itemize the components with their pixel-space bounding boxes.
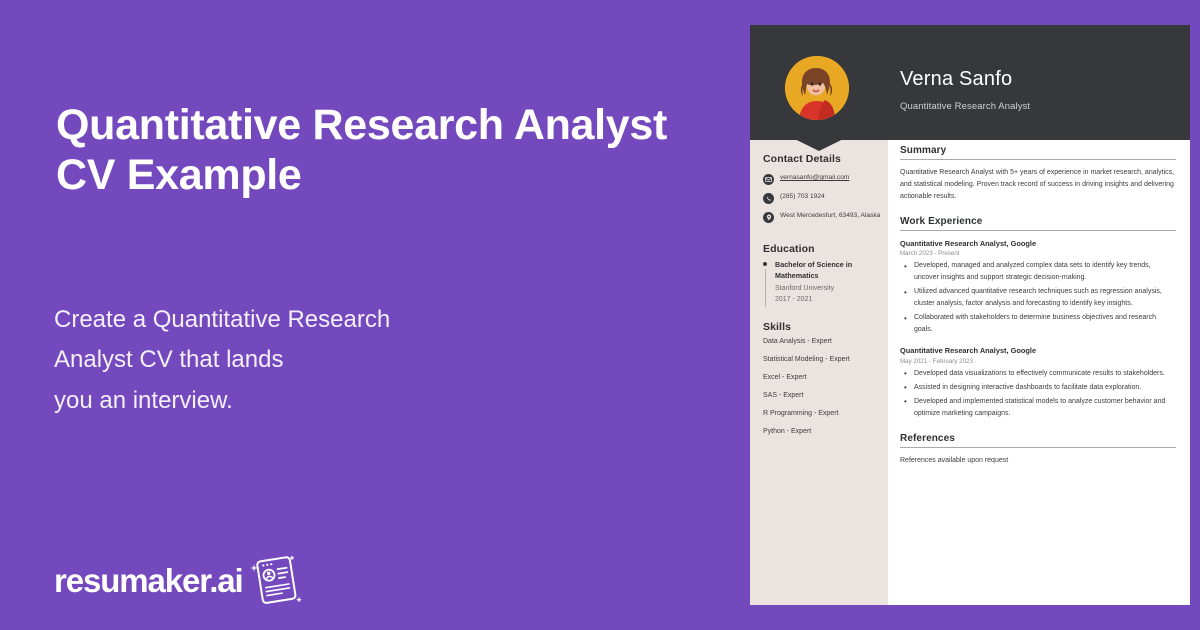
job-dates: March 2023 - Present: [900, 250, 1176, 257]
references-heading: References: [900, 433, 1176, 448]
skill-item: Data Analysis - Expert: [763, 338, 885, 345]
contact-item-location: West Mercedesfurt, 63493, Alaska: [763, 211, 883, 223]
job-title: Quantitative Research Analyst, Google: [900, 238, 1176, 249]
education-school: Stanford University: [775, 283, 883, 294]
location-pin-icon: [763, 212, 774, 223]
contact-item-email[interactable]: vernasanfo@gmail.com: [763, 173, 883, 185]
job-bullet: Assisted in designing interactive dashbo…: [900, 382, 1176, 394]
job-entry: Quantitative Research Analyst, Google Ma…: [900, 238, 1176, 336]
contact-phone-value: (285) 703 1924: [780, 192, 825, 202]
work-experience-section: Work Experience Quantitative Research An…: [900, 216, 1176, 420]
contact-item-phone[interactable]: (285) 703 1924: [763, 192, 883, 204]
skill-item: SAS - Expert: [763, 392, 885, 399]
promo-subtitle-line: you an interview.: [54, 381, 524, 421]
skills-list: Data Analysis - Expert Statistical Model…: [763, 338, 885, 446]
phone-icon: [763, 193, 774, 204]
cv-main-column: Summary Quantitative Research Analyst wi…: [900, 145, 1176, 480]
skills-heading: Skills: [763, 321, 885, 333]
education-degree: Bachelor of Science in Mathematics: [775, 260, 883, 282]
education-heading: Education: [763, 243, 815, 255]
promo-panel: Quantitative Research Analyst CV Example…: [0, 0, 750, 630]
job-bullet: Developed and implemented statistical mo…: [900, 396, 1176, 420]
timeline-bullet-icon: [763, 262, 767, 266]
cv-preview-card[interactable]: Verna Sanfo Quantitative Research Analys…: [750, 25, 1190, 605]
envelope-icon: [763, 174, 774, 185]
skill-item: Excel - Expert: [763, 374, 885, 381]
summary-heading: Summary: [900, 145, 1176, 160]
skill-item: Statistical Modeling - Expert: [763, 356, 885, 363]
job-bullet-list: Developed data visualizations to effecti…: [900, 368, 1176, 420]
page-title: Quantitative Research Analyst CV Example: [56, 100, 696, 201]
contact-heading: Contact Details: [763, 153, 841, 165]
references-text: References available upon request: [900, 455, 1176, 467]
job-bullet: Developed data visualizations to effecti…: [900, 368, 1176, 380]
cv-candidate-name: Verna Sanfo: [900, 68, 1012, 91]
work-experience-heading: Work Experience: [900, 216, 1176, 231]
summary-text: Quantitative Research Analyst with 5+ ye…: [900, 167, 1176, 203]
promo-subtitle-line: Create a Quantitative Research: [54, 300, 524, 340]
education-years: 2017 - 2021: [775, 294, 883, 305]
logo-wordmark: resumaker.ai: [54, 562, 243, 600]
job-bullet: Utilized advanced quantitative research …: [900, 286, 1176, 310]
summary-section: Summary Quantitative Research Analyst wi…: [900, 145, 1176, 203]
job-bullet: Developed, managed and analyzed complex …: [900, 260, 1176, 284]
document-icon: [246, 552, 308, 610]
job-dates: May 2021 - February 2023: [900, 358, 1176, 365]
job-bullet-list: Developed, managed and analyzed complex …: [900, 260, 1176, 336]
skill-item: Python - Expert: [763, 428, 885, 435]
job-title: Quantitative Research Analyst, Google: [900, 345, 1176, 356]
skill-item: R Programming - Expert: [763, 410, 885, 417]
job-bullet: Collaborated with stakeholders to determ…: [900, 312, 1176, 336]
education-entry: Bachelor of Science in Mathematics Stanf…: [763, 260, 883, 305]
contact-email-value: vernasanfo@gmail.com: [780, 173, 849, 183]
job-entry: Quantitative Research Analyst, Google Ma…: [900, 345, 1176, 419]
resumaker-logo[interactable]: resumaker.ai: [54, 552, 308, 610]
contact-list: vernasanfo@gmail.com (285) 703 1924 West…: [763, 173, 883, 230]
promo-subtitle-line: Analyst CV that lands: [54, 340, 524, 380]
references-section: References References available upon req…: [900, 433, 1176, 467]
cv-candidate-role: Quantitative Research Analyst: [900, 101, 1030, 112]
avatar: [785, 56, 849, 120]
timeline-line: [765, 269, 766, 307]
promo-subtitle: Create a Quantitative Research Analyst C…: [54, 300, 524, 421]
contact-location-value: West Mercedesfurt, 63493, Alaska: [780, 211, 880, 221]
